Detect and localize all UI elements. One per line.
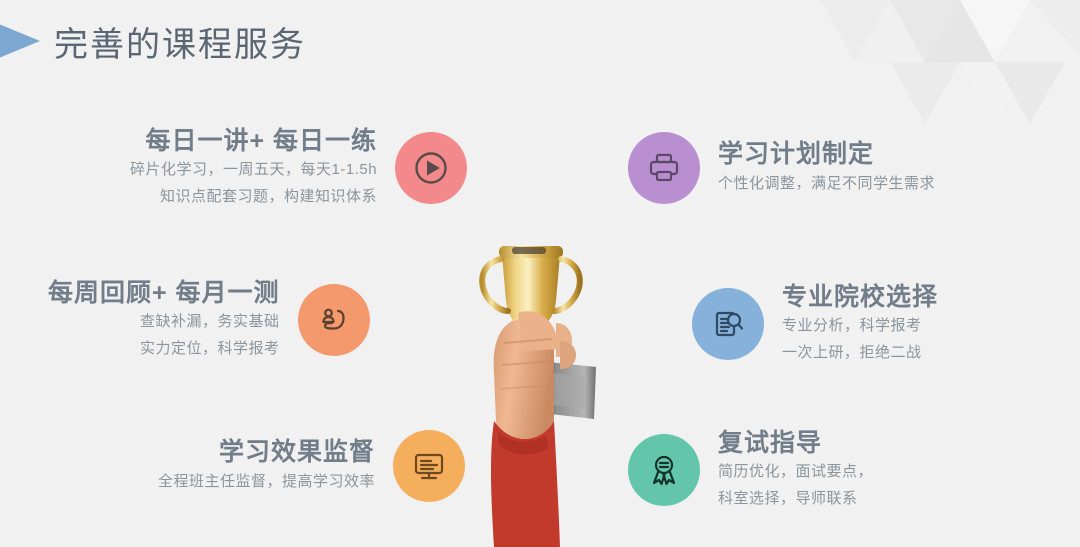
document-search-icon[interactable] — [692, 288, 764, 360]
feature-weekly-review: 每周回顾+ 每月一测 查缺补漏，务实基础 实力定位，科学报考 — [48, 278, 370, 362]
feature-line: 科室选择，导师联系 — [718, 486, 858, 512]
feature-title: 学习计划制定 — [718, 139, 874, 170]
feature-text: 每周回顾+ 每月一测 查缺补漏，务实基础 实力定位，科学报考 — [48, 278, 280, 362]
customer-support-icon[interactable] — [298, 284, 370, 356]
right-arrow-icon — [0, 12, 50, 70]
feature-retest-guidance: 复试指导 简历优化，面试要点， 科室选择，导师联系 — [628, 428, 873, 512]
play-circle-glyph — [411, 148, 451, 188]
award-medal-icon[interactable] — [628, 434, 700, 506]
printer-glyph — [644, 148, 684, 188]
feature-school-selection: 专业院校选择 专业分析，科学报考 一次上研，拒绝二战 — [692, 282, 938, 366]
feature-text: 学习计划制定 个性化调整，满足不同学生需求 — [718, 139, 935, 197]
document-search-glyph — [708, 304, 748, 344]
feature-text: 复试指导 简历优化，面试要点， 科室选择，导师联系 — [718, 428, 873, 512]
award-medal-glyph — [644, 450, 684, 490]
desktop-monitor-glyph — [409, 446, 449, 486]
feature-text: 每日一讲+ 每日一练 碎片化学习，一周五天，每天1-1.5h 知识点配套习题，构… — [130, 126, 377, 210]
feature-line: 简历优化，面试要点， — [718, 459, 873, 485]
feature-title: 专业院校选择 — [782, 282, 938, 313]
slide-root: 完善的课程服务 — [0, 0, 1080, 547]
feature-line: 查缺补漏，务实基础 — [140, 309, 280, 335]
desktop-monitor-icon[interactable] — [393, 430, 465, 502]
feature-line: 碎片化学习，一周五天，每天1-1.5h — [130, 157, 377, 183]
feature-line: 个性化调整，满足不同学生需求 — [718, 171, 935, 197]
feature-study-plan: 学习计划制定 个性化调整，满足不同学生需求 — [628, 132, 935, 204]
feature-title: 每周回顾+ 每月一测 — [48, 278, 280, 309]
feature-text: 专业院校选择 专业分析，科学报考 一次上研，拒绝二战 — [782, 282, 938, 366]
page-title: 完善的课程服务 — [54, 17, 306, 66]
slide-header: 完善的课程服务 — [0, 12, 306, 70]
feature-line: 专业分析，科学报考 — [782, 313, 922, 339]
hand-holding-trophy — [468, 243, 643, 547]
play-circle-icon[interactable] — [395, 132, 467, 204]
feature-title: 学习效果监督 — [219, 437, 375, 468]
feature-study-supervision: 学习效果监督 全程班主任监督，提高学习效率 — [158, 430, 465, 502]
feature-title: 每日一讲+ 每日一练 — [146, 126, 378, 157]
feature-line: 全程班主任监督，提高学习效率 — [158, 469, 375, 495]
feature-title: 复试指导 — [718, 428, 822, 459]
geometric-decoration — [820, 0, 1080, 130]
feature-daily-lesson: 每日一讲+ 每日一练 碎片化学习，一周五天，每天1-1.5h 知识点配套习题，构… — [130, 126, 467, 210]
printer-icon[interactable] — [628, 132, 700, 204]
feature-line: 实力定位，科学报考 — [140, 336, 280, 362]
customer-support-glyph — [314, 300, 354, 340]
feature-line: 知识点配套习题，构建知识体系 — [160, 184, 377, 210]
feature-line: 一次上研，拒绝二战 — [782, 340, 922, 366]
feature-text: 学习效果监督 全程班主任监督，提高学习效率 — [158, 437, 375, 495]
